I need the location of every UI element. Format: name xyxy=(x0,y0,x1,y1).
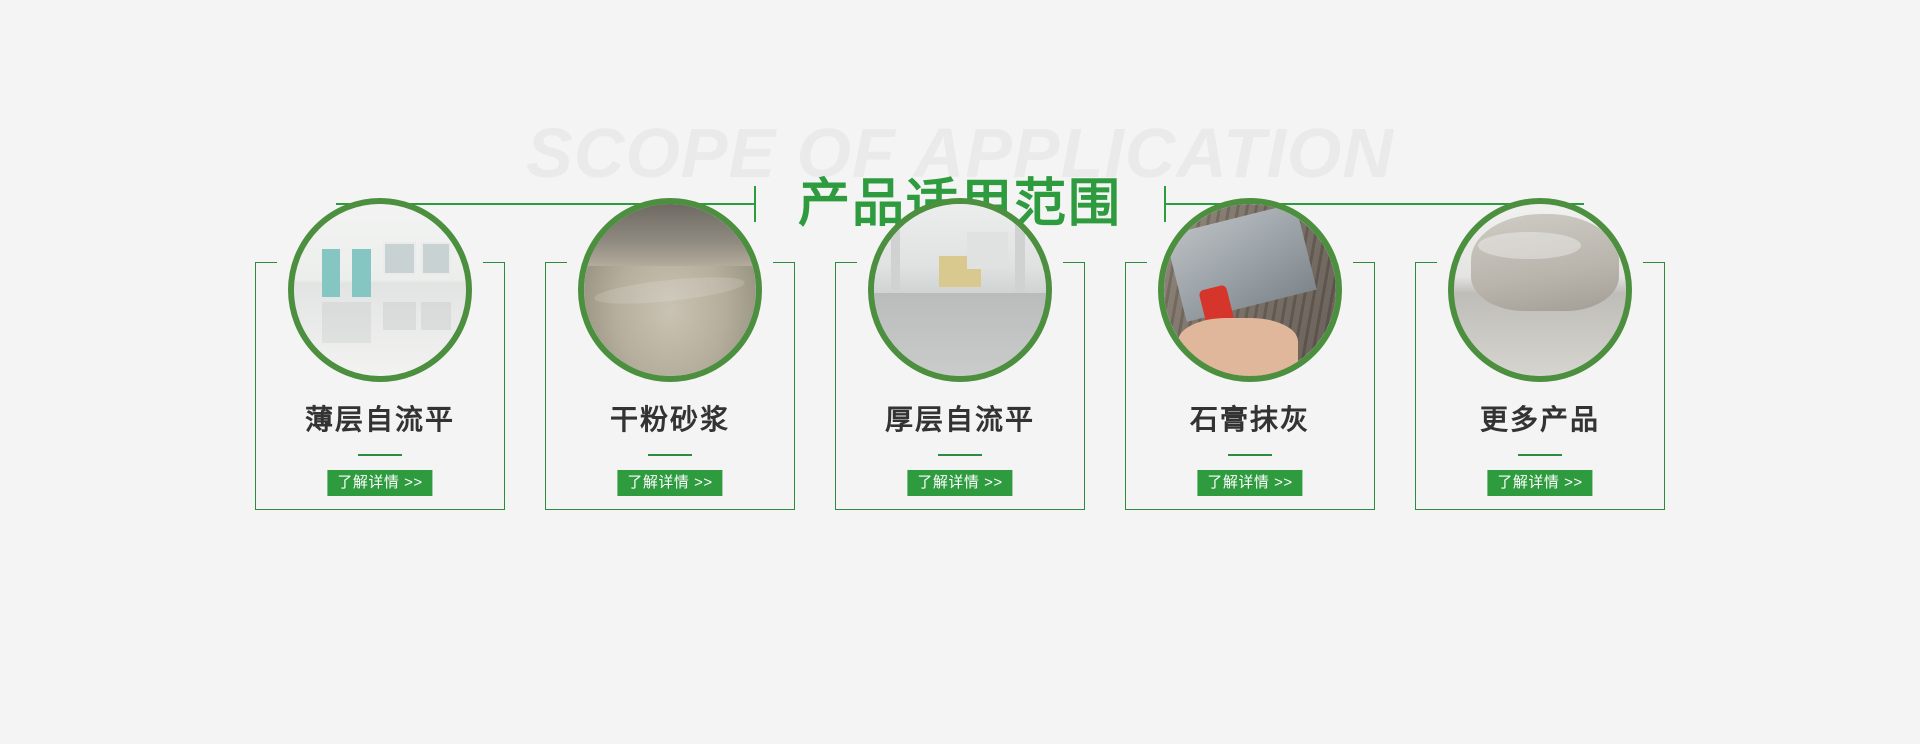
card-divider xyxy=(1228,454,1272,456)
card-frame-top-right xyxy=(1063,262,1085,263)
card-title: 厚层自流平 xyxy=(835,406,1085,434)
card-frame-bottom xyxy=(255,509,505,510)
gypsum-plaster-notched-trowel-photo xyxy=(1164,204,1336,376)
card-divider xyxy=(648,454,692,456)
scope-of-application-section: SCOPE OF APPLICATION 产品适用范围 xyxy=(0,0,1920,744)
card-frame-top-right xyxy=(483,262,505,263)
card-divider xyxy=(1518,454,1562,456)
dry-powder-mortar-pile-photo xyxy=(584,204,756,376)
card-frame-bottom xyxy=(1415,509,1665,510)
product-card[interactable]: 厚层自流平 了解详情 >> xyxy=(835,262,1085,510)
learn-more-button[interactable]: 了解详情 >> xyxy=(907,470,1012,496)
product-image-circle[interactable] xyxy=(868,198,1052,382)
product-card-list: 薄层自流平 了解详情 >> 干粉砂浆 了解详情 >> xyxy=(0,262,1920,510)
learn-more-button[interactable]: 了解详情 >> xyxy=(617,470,722,496)
card-title: 薄层自流平 xyxy=(255,406,505,434)
card-frame-bottom xyxy=(1125,509,1375,510)
thick-layer-self-leveling-warehouse-photo xyxy=(874,204,1046,376)
card-frame-right xyxy=(794,262,795,510)
card-title: 石膏抹灰 xyxy=(1125,406,1375,434)
card-title: 干粉砂浆 xyxy=(545,406,795,434)
card-frame-top-right xyxy=(773,262,795,263)
learn-more-button[interactable]: 了解详情 >> xyxy=(327,470,432,496)
more-products-plaster-closeup-photo xyxy=(1454,204,1626,376)
learn-more-button[interactable]: 了解详情 >> xyxy=(1487,470,1592,496)
card-frame-left xyxy=(835,262,836,510)
card-divider xyxy=(938,454,982,456)
card-frame-right xyxy=(1084,262,1085,510)
card-frame-left xyxy=(1415,262,1416,510)
card-frame-top-left xyxy=(1125,262,1147,263)
product-card[interactable]: 薄层自流平 了解详情 >> xyxy=(255,262,505,510)
card-frame-top-left xyxy=(1415,262,1437,263)
card-title: 更多产品 xyxy=(1415,406,1665,434)
card-frame-right xyxy=(1664,262,1665,510)
card-frame-top-right xyxy=(1353,262,1375,263)
card-frame-bottom xyxy=(545,509,795,510)
product-image-circle[interactable] xyxy=(1158,198,1342,382)
product-card[interactable]: 干粉砂浆 了解详情 >> xyxy=(545,262,795,510)
card-frame-left xyxy=(545,262,546,510)
card-frame-right xyxy=(504,262,505,510)
card-frame-top-right xyxy=(1643,262,1665,263)
product-image-circle[interactable] xyxy=(1448,198,1632,382)
section-header: SCOPE OF APPLICATION 产品适用范围 xyxy=(0,60,1920,180)
card-frame-right xyxy=(1374,262,1375,510)
card-frame-bottom xyxy=(835,509,1085,510)
product-card[interactable]: 更多产品 了解详情 >> xyxy=(1415,262,1665,510)
learn-more-button[interactable]: 了解详情 >> xyxy=(1197,470,1302,496)
card-frame-left xyxy=(255,262,256,510)
thin-layer-self-leveling-floor-photo xyxy=(294,204,466,376)
product-image-circle[interactable] xyxy=(578,198,762,382)
card-frame-top-left xyxy=(545,262,567,263)
card-frame-top-left xyxy=(255,262,277,263)
card-frame-top-left xyxy=(835,262,857,263)
card-divider xyxy=(358,454,402,456)
product-image-circle[interactable] xyxy=(288,198,472,382)
card-frame-left xyxy=(1125,262,1126,510)
product-card[interactable]: 石膏抹灰 了解详情 >> xyxy=(1125,262,1375,510)
